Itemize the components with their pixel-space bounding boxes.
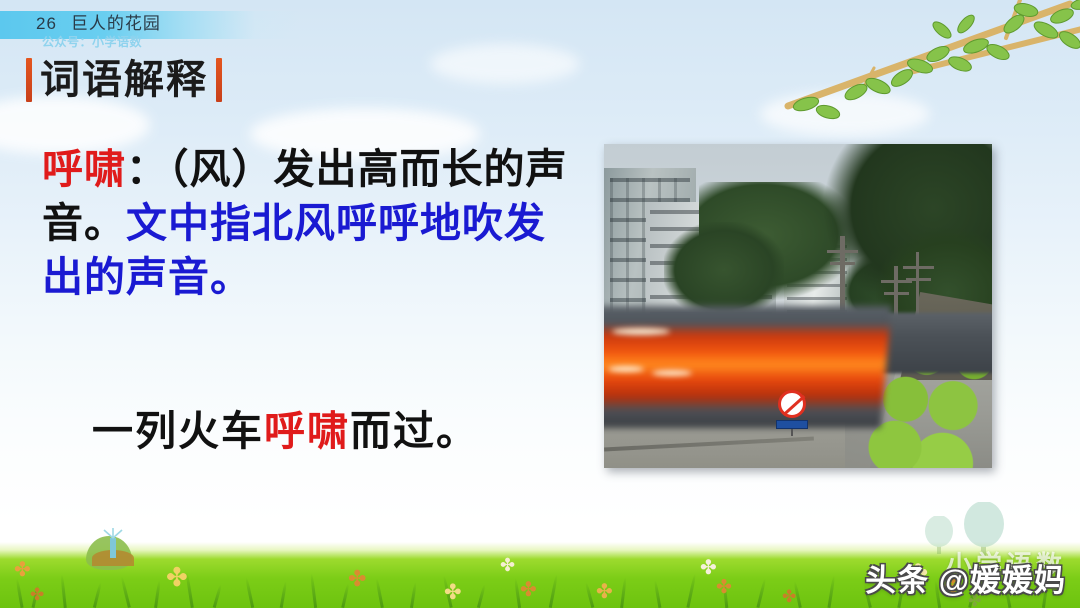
definition-term: 呼啸 — [42, 146, 126, 192]
lesson-title-text: 巨人的花园 — [71, 14, 161, 33]
sign-plate — [776, 420, 808, 429]
grass-blade — [280, 581, 288, 608]
example-keyword: 呼啸 — [264, 408, 350, 454]
flower-icon: ✤ — [700, 558, 717, 578]
flower-icon: ✤ — [30, 586, 44, 603]
slide-canvas: 26巨人的花园 公众号：小学语数 词语解释 呼啸：（风）发出高而长的声音。文中指… — [0, 0, 1080, 608]
grass-blade — [654, 580, 662, 608]
sign-post — [791, 429, 793, 436]
flower-icon: ✤ — [716, 578, 732, 597]
flower-icon: ✤ — [520, 580, 537, 600]
example-before: 一列火车 — [92, 408, 264, 454]
definition-block: 呼啸：（风）发出高而长的声音。文中指北风呼呼地吹发出的声音。 — [42, 142, 582, 304]
grass-blade — [375, 578, 384, 608]
flower-icon: ✤ — [444, 582, 462, 603]
grass-blade — [477, 584, 486, 608]
grass-blade — [60, 574, 67, 608]
flower-icon: ✤ — [348, 568, 366, 590]
lesson-number: 26 — [36, 14, 57, 33]
photo-motion-streak — [612, 328, 670, 335]
flower-icon: ✤ — [782, 588, 796, 605]
lesson-title: 26巨人的花园 — [36, 9, 161, 34]
photo-train-locomotive — [604, 306, 891, 428]
example-after: 而过。 — [350, 408, 479, 454]
grass-blade — [154, 580, 161, 608]
grass-blade — [245, 577, 254, 608]
grass-blade — [15, 578, 23, 608]
heading-right-bar-icon — [216, 58, 222, 102]
section-heading: 词语解释 — [26, 58, 222, 102]
train-photo — [604, 144, 992, 468]
no-crossing-icon — [778, 390, 806, 418]
flower-icon: ✤ — [166, 564, 188, 590]
watermark-text: 头条 @媛媛妈 — [865, 555, 1066, 600]
photo-warning-sign — [776, 390, 808, 434]
cloud-shape — [760, 92, 930, 136]
grass-blade — [620, 577, 627, 608]
grass-blade — [585, 582, 595, 608]
grass-blade — [93, 582, 102, 608]
flower-icon: ✤ — [500, 556, 515, 574]
grass-blade — [213, 584, 222, 608]
photo-tree — [664, 222, 784, 318]
train-photo-content — [604, 144, 992, 468]
cloud-shape — [430, 44, 580, 84]
grass-blade — [549, 574, 558, 608]
photo-motion-streak — [652, 370, 692, 376]
flower-icon: ✤ — [596, 582, 613, 602]
definition-colon: ： — [126, 146, 168, 192]
heading-left-bar-icon — [26, 58, 32, 102]
photo-motion-streak — [608, 366, 644, 372]
grass-blade — [310, 573, 317, 608]
grass-blade — [120, 576, 131, 608]
tree-branch-icon — [770, 0, 1080, 126]
flower-icon: ✤ — [14, 560, 31, 580]
account-line: 公众号：小学语数 — [42, 33, 142, 50]
grass-blade — [410, 582, 417, 608]
grass-blade — [827, 575, 835, 608]
grass-blade — [756, 578, 766, 608]
example-sentence: 一列火车呼啸而过。 — [92, 397, 479, 457]
grass-blade — [686, 573, 696, 608]
section-heading-text: 词语解释 — [40, 60, 208, 100]
